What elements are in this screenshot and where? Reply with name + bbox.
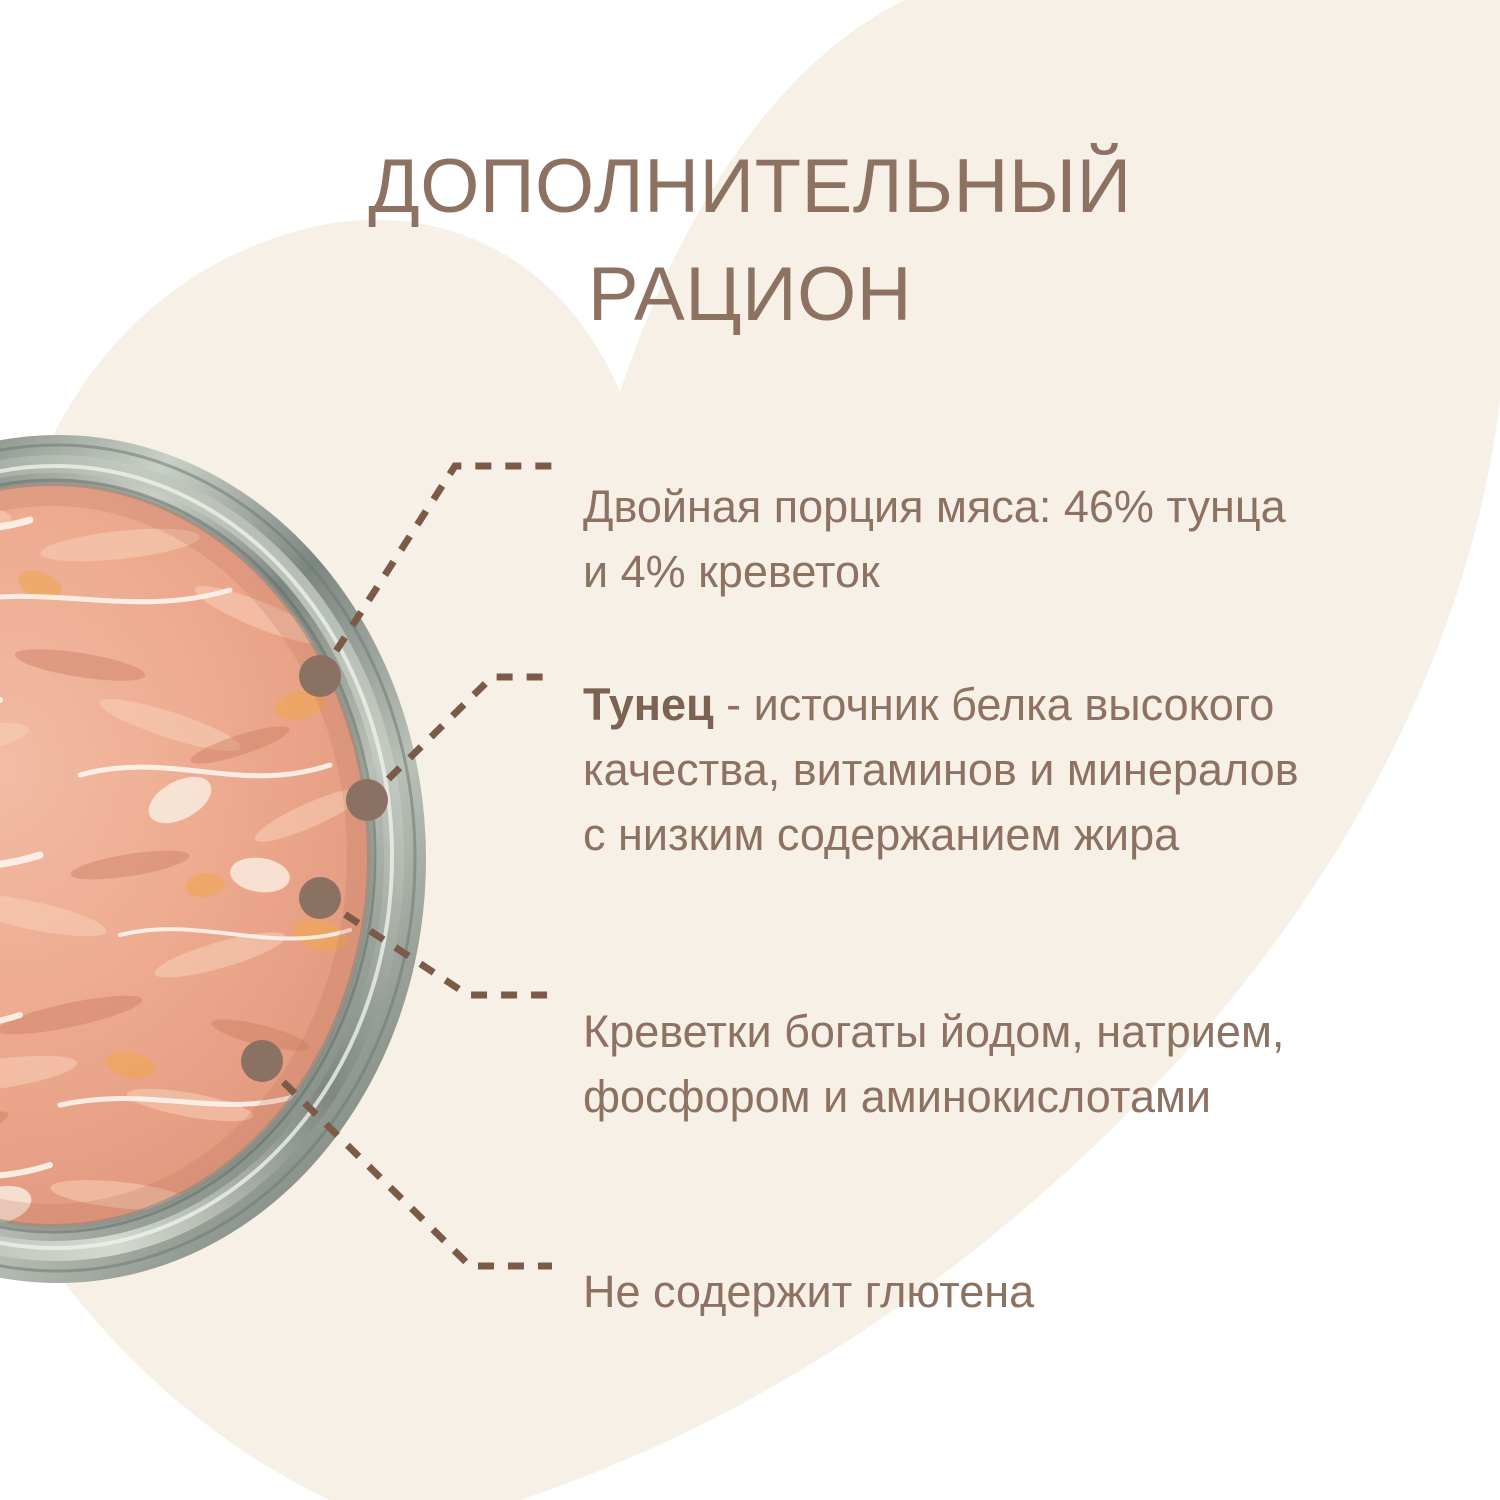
can-illustration — [0, 415, 430, 1305]
feature-body-gluten-free: Не содержит глютена — [583, 1266, 1034, 1317]
feature-text-gluten-free: Не содержит глютена — [583, 1260, 1313, 1325]
feature-body-shrimp-minerals: Креветки богаты йодом, натрием, фосфором… — [583, 1006, 1284, 1122]
promo-slide: ДОПОЛНИТЕЛЬНЫЙ РАЦИОН Двойная порция мяс… — [0, 0, 1500, 1500]
feature-text-shrimp-minerals: Креветки богаты йодом, натрием, фосфором… — [583, 1000, 1313, 1130]
product-can-image — [0, 415, 430, 1305]
feature-body-double-meat: Двойная порция мяса: 46% тунца и 4% крев… — [583, 481, 1286, 597]
page-title: ДОПОЛНИТЕЛЬНЫЙ РАЦИОН — [250, 133, 1250, 349]
feature-lead-tuna-protein: Тунец — [583, 679, 714, 730]
feature-text-double-meat: Двойная порция мяса: 46% тунца и 4% крев… — [583, 475, 1313, 605]
feature-text-tuna-protein: Тунец - источник белка высокого качества… — [583, 673, 1313, 867]
